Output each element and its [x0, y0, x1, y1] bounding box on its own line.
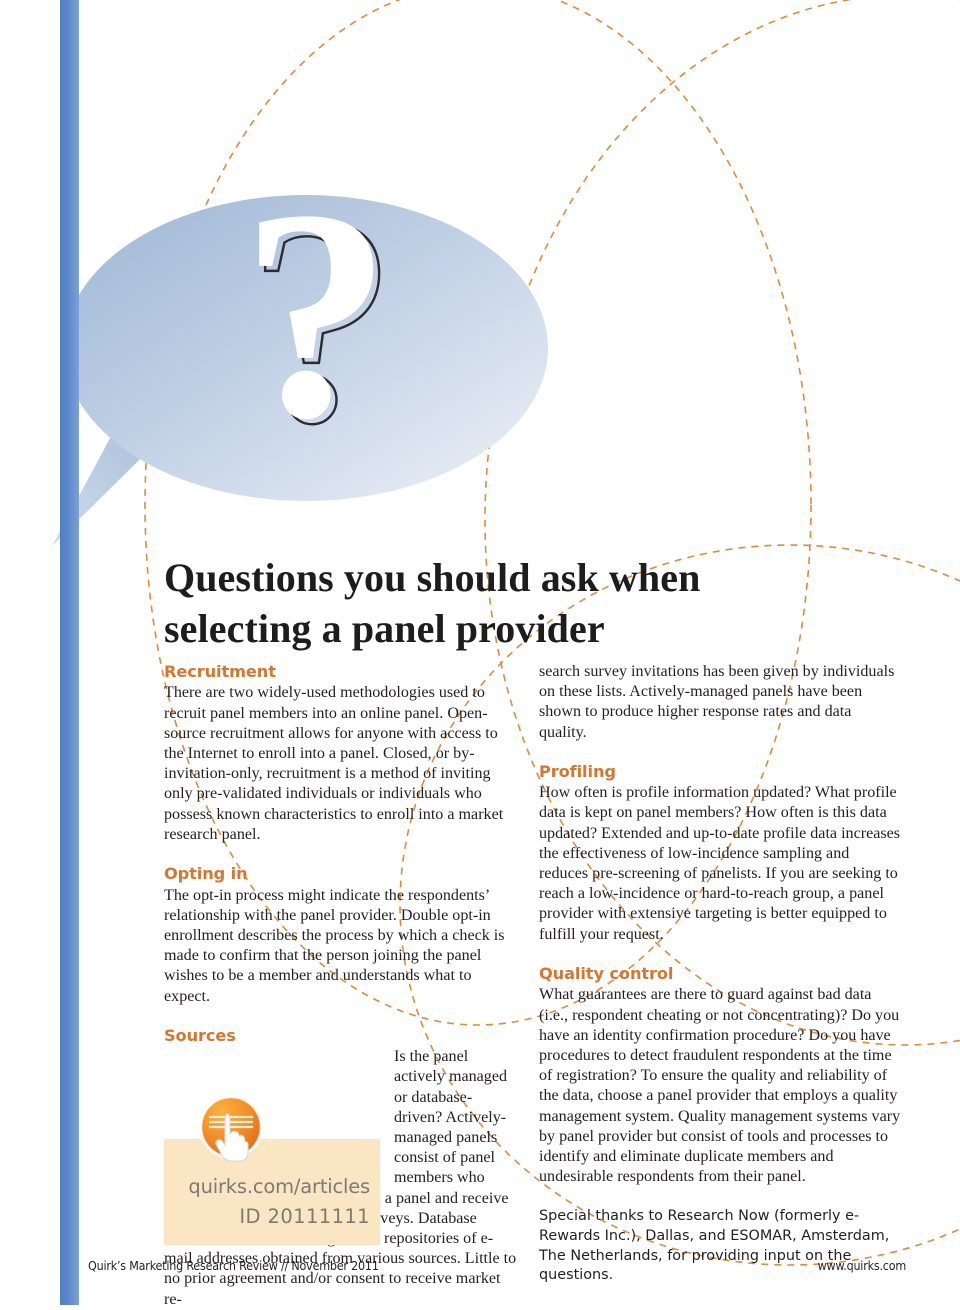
continuation-paragraph: search survey invitations has been given…: [539, 662, 901, 743]
page-title: Questions you should ask when selecting …: [164, 552, 764, 654]
footer-publication: Quirk’s Marketing Research Review // Nov…: [88, 1258, 379, 1273]
left-accent-bar: [60, 0, 79, 1305]
footer-website[interactable]: www.quirks.com: [818, 1258, 906, 1273]
section-body-quality-control: What guarantees are there to guard again…: [539, 985, 901, 1187]
speech-bubble-tail: [52, 390, 196, 546]
section-body-recruitment: There are two widely-used methodologies …: [164, 683, 519, 845]
section-heading-opting-in: Opting in: [164, 864, 519, 883]
section-heading-quality-control: Quality control: [539, 964, 901, 983]
right-column: search survey invitations has been given…: [539, 662, 901, 1300]
section-heading-sources: Sources: [164, 1026, 519, 1045]
speech-bubble: [64, 195, 548, 501]
promo-article-id: ID 20111111: [239, 1205, 370, 1228]
page-footer: Quirk’s Marketing Research Review // Nov…: [0, 1258, 960, 1282]
magazine-page: ? ? Questions you should ask when select…: [0, 0, 960, 1305]
promo-url[interactable]: quirks.com/articles: [188, 1175, 370, 1198]
question-mark-outline: ?: [247, 153, 397, 485]
section-body-profiling: How often is profile information updated…: [539, 783, 901, 945]
section-heading-profiling: Profiling: [539, 762, 901, 781]
question-mark-glyph: ?: [241, 148, 391, 480]
hand-pointer-icon[interactable]: [196, 1092, 266, 1162]
section-heading-recruitment: Recruitment: [164, 662, 519, 681]
section-body-opting-in: The opt-in process might indicate the re…: [164, 886, 519, 1007]
